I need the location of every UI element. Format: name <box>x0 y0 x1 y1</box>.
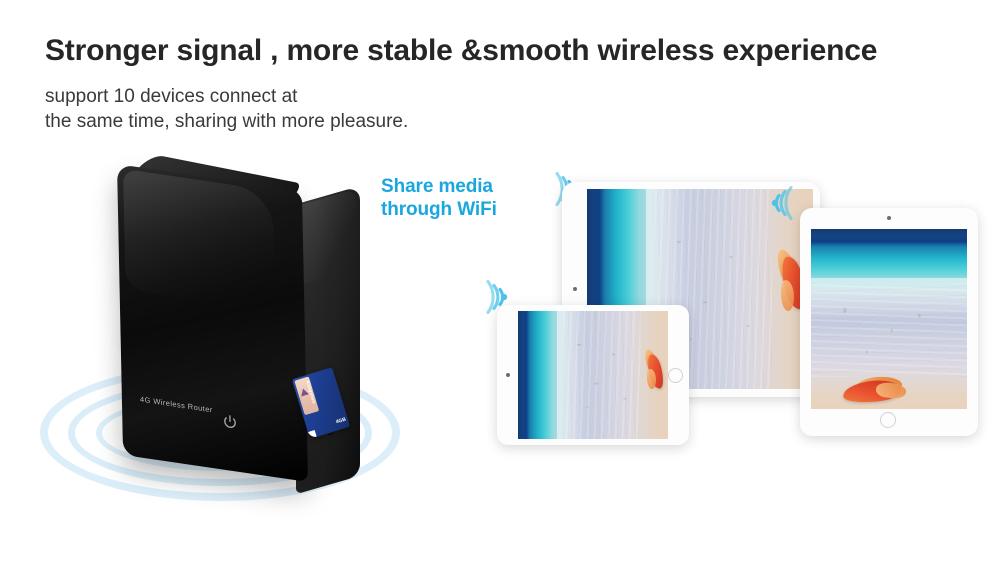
tablet-small-camera-icon <box>506 373 510 377</box>
beach-sand-specks <box>569 321 641 429</box>
seashell-icon <box>839 377 908 404</box>
page-title: Stronger signal , more stable &smooth wi… <box>45 34 877 68</box>
beach-photo-rotated <box>518 311 668 439</box>
page-subtitle: support 10 devices connect at the same t… <box>45 84 408 134</box>
tablet-small-screen <box>518 311 668 439</box>
tablet-small-landscape <box>497 305 689 445</box>
tablet-right-camera-icon <box>887 216 891 220</box>
beach-photo-upright <box>811 229 967 409</box>
seashell-icon <box>646 349 664 393</box>
callout-line-2: through WiFi <box>381 198 497 221</box>
tablet-right-home-button[interactable] <box>880 412 896 428</box>
subtitle-line-2: the same time, sharing with more pleasur… <box>45 109 408 134</box>
subtitle-line-1: support 10 devices connect at <box>45 84 408 109</box>
router-front-face <box>117 164 308 482</box>
sd-card-capacity-text: 4GB <box>335 417 347 426</box>
callout-line-1: Share media <box>381 175 497 198</box>
tablet-large-camera-icon <box>573 287 577 291</box>
share-media-callout: Share media through WiFi <box>381 175 497 221</box>
tablet-right-screen <box>811 229 967 409</box>
beach-sand-specks <box>820 294 957 377</box>
power-icon <box>223 414 237 431</box>
promo-banner: Stronger signal , more stable &smooth wi… <box>0 0 1000 572</box>
wireless-router-device: 4G Wireless Router <box>120 178 380 488</box>
tablet-right-portrait <box>800 208 978 436</box>
tablet-small-home-button[interactable] <box>668 368 683 383</box>
